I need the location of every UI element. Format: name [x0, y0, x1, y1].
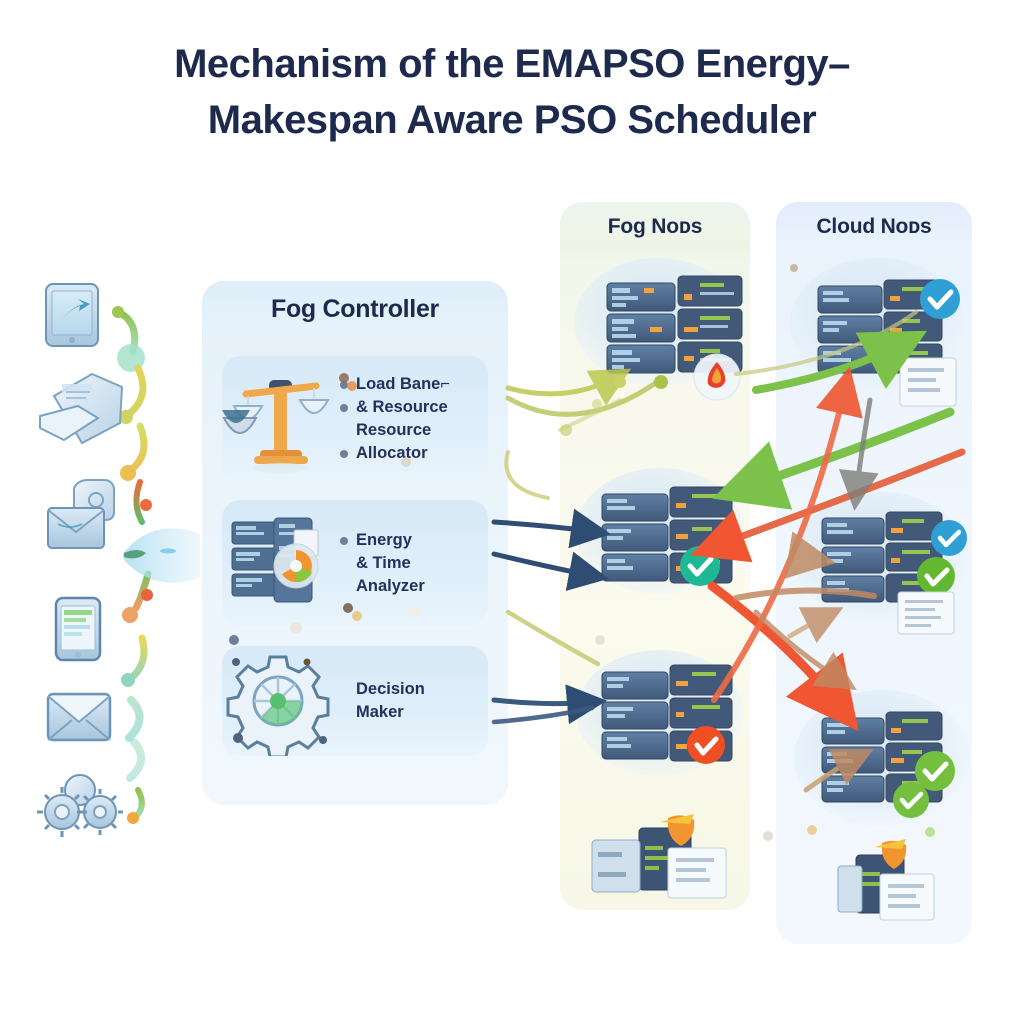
arrow-analyzer-to-fog-middle-2	[494, 554, 594, 576]
flow-arrows-layer	[0, 0, 1024, 1024]
arrow-decision-to-fog-lower-2	[494, 708, 592, 722]
arrow-analyzer-to-fog-middle-1	[494, 522, 596, 532]
arrow-fog-to-cloud-mid-tan	[736, 590, 874, 598]
arrow-bottom-to-cloud-lower	[806, 756, 860, 790]
arrow-allocator-to-fog-top	[508, 376, 618, 394]
flow-node-dot	[614, 376, 626, 388]
arrow-allocator-low	[506, 452, 548, 498]
arrow-cloud-to-fog-middle-green	[738, 412, 950, 490]
flow-node-dot	[654, 375, 668, 389]
arrow-allocator-to-fog-top-2	[508, 380, 660, 414]
diagram-canvas: Mechanism of the EMAPSO Energy– Makespan…	[0, 0, 1024, 1024]
decor-specks	[229, 264, 935, 841]
flow-node-dot	[592, 399, 602, 409]
arrow-fog-top-to-cloud	[736, 312, 916, 374]
arrow-bottom-to-cloud-mid	[790, 614, 830, 636]
arrow-fog-to-cloud-lower-tan	[756, 612, 844, 682]
arrow-fog-middle-to-cloud-lower-red	[712, 586, 842, 710]
arrow-decision-to-fog-lower	[494, 700, 592, 704]
arrow-into-cloud-mid-tan	[790, 559, 818, 560]
arrow-allocator-to-fog-lower	[508, 612, 598, 664]
flow-node-dot	[560, 424, 572, 436]
arrow-cloud-to-fog-middle-red	[710, 452, 962, 548]
